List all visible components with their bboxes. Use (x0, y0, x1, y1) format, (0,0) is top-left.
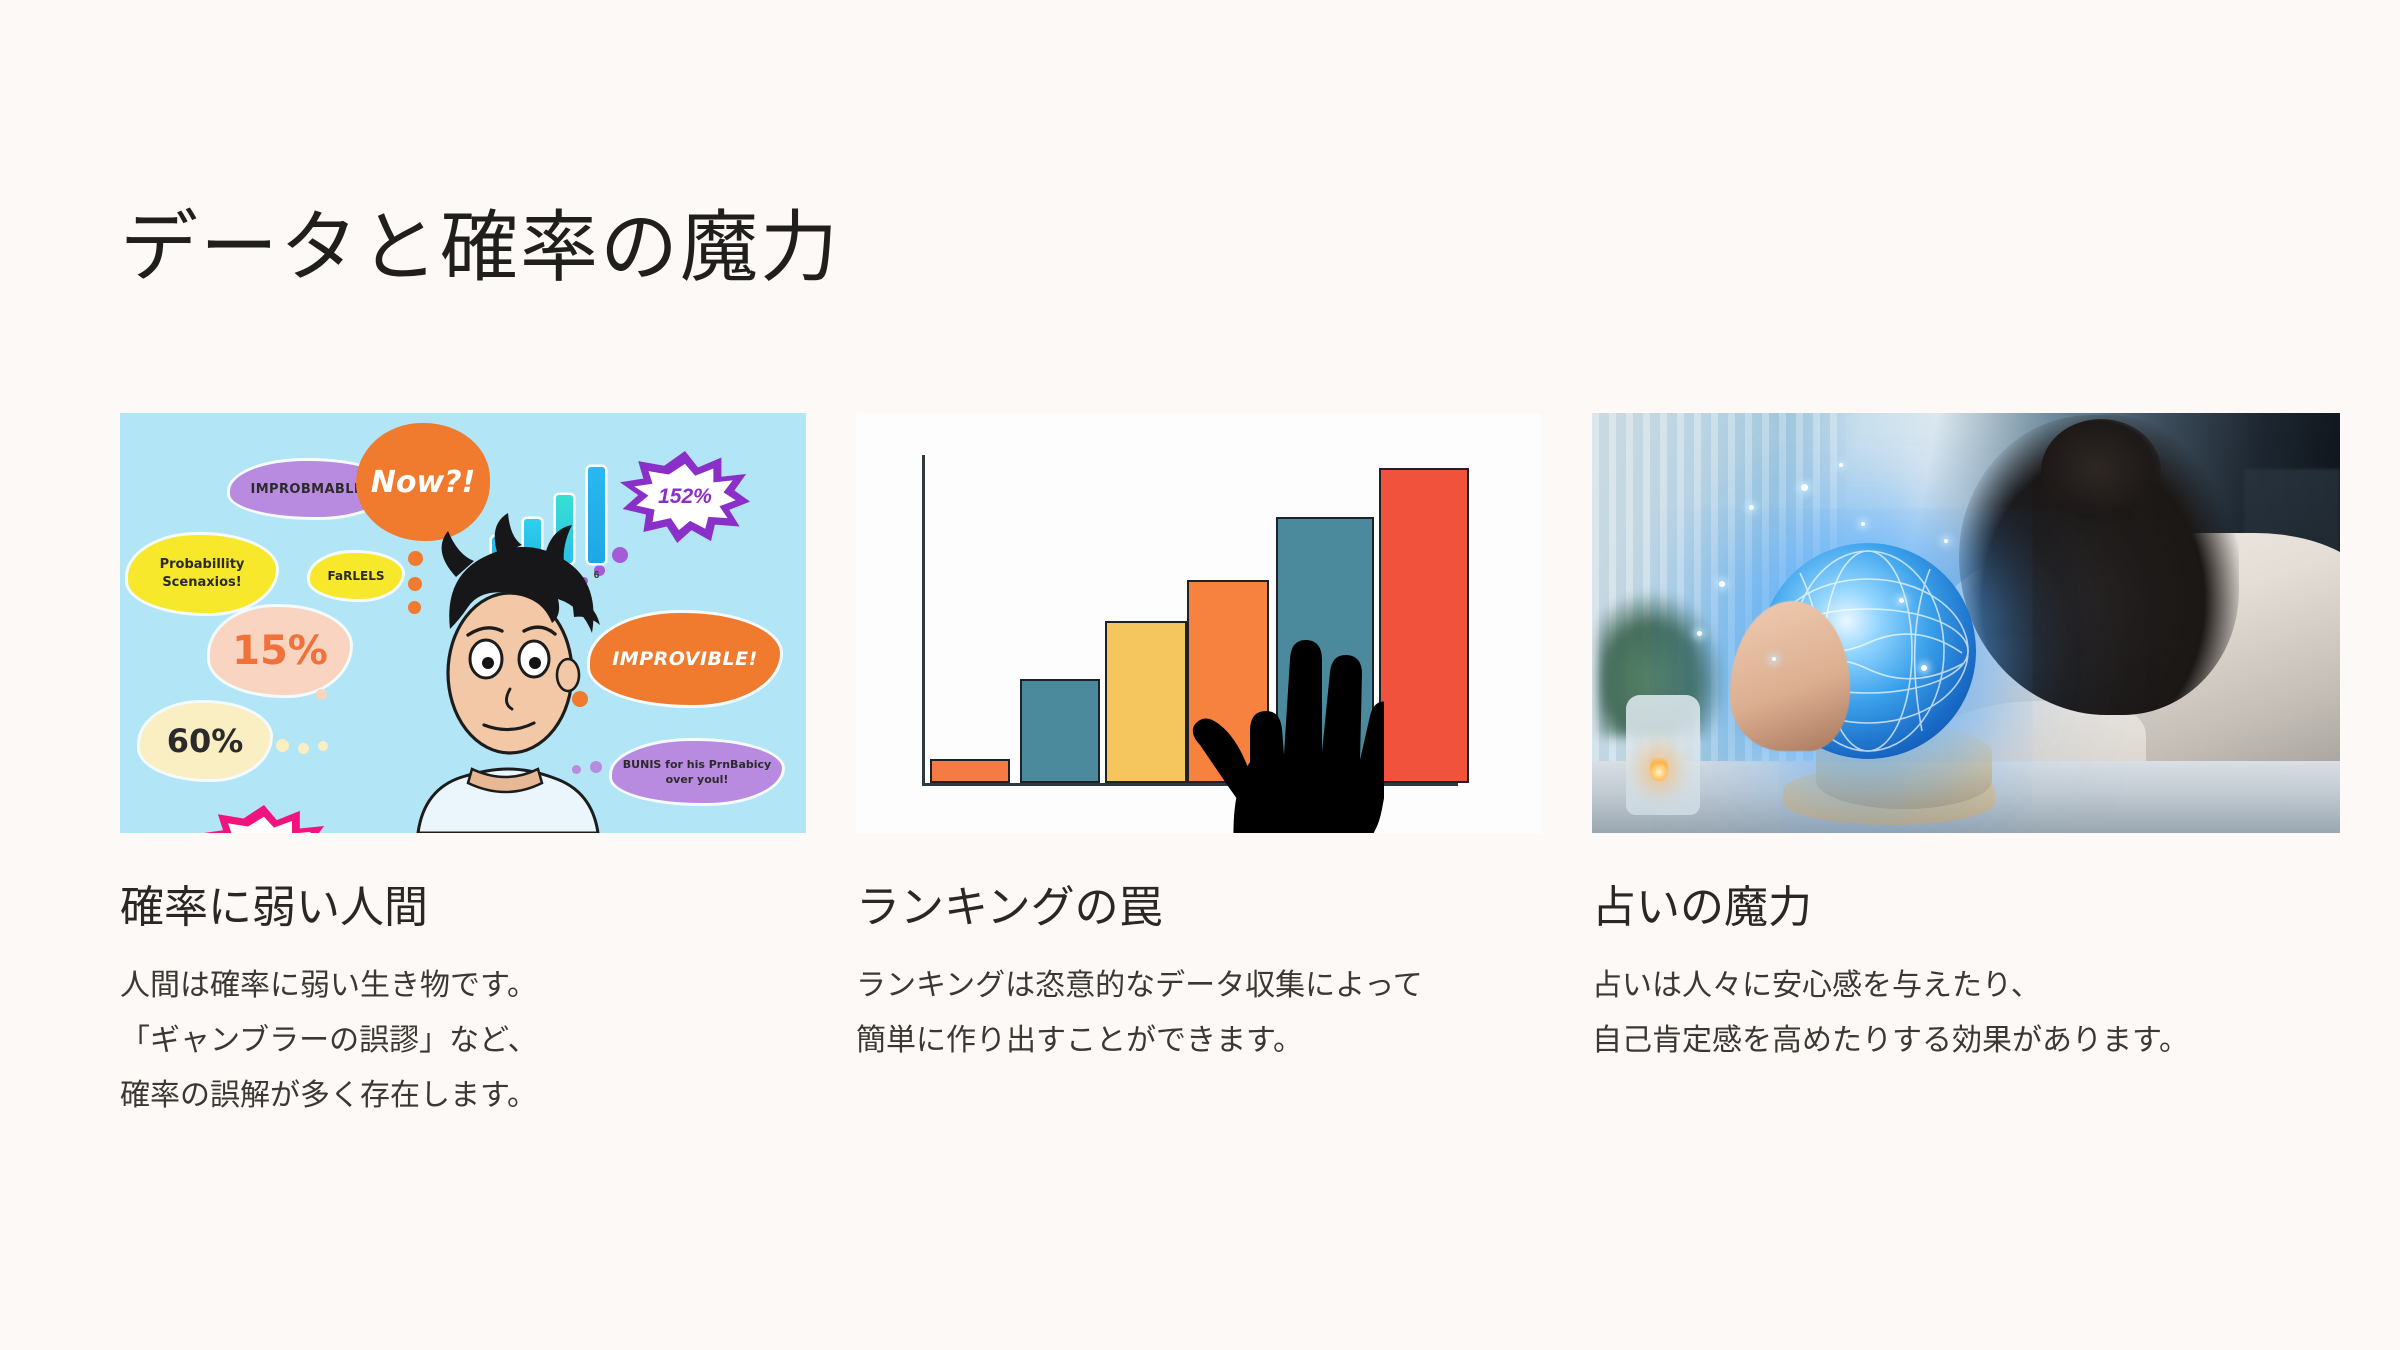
card-1-thumbnail[interactable]: IMPROBMABLE! Now?! Probabillity Scenaxio… (120, 413, 806, 833)
card-probability-humans[interactable]: IMPROBMABLE! Now?! Probabillity Scenaxio… (120, 413, 806, 1123)
card-2-body: ランキングは恣意的なデータ収集によって 簡単に作り出すことができます。 (856, 958, 1542, 1068)
black-hand-silhouette (1174, 591, 1384, 833)
slide-root: データと確率の魔力 IMPROBMABLE! Now?! Probabillit… (0, 0, 2400, 1350)
card-1-title: 確率に弱い人間 (120, 883, 806, 934)
candle-jar (1626, 695, 1700, 815)
chart-bar (1020, 679, 1100, 783)
chart-bar (930, 759, 1010, 783)
bar-chart-with-hand-image (856, 413, 1542, 833)
card-1-body: 人間は確率に弱い生き物です。 「ギャンブラーの誤謬」など、 確率の誤解が多く存在… (120, 958, 806, 1123)
chart-y-axis (922, 455, 925, 785)
card-3-body: 占いは人々に安心感を与えたり、 自己肯定感を高めたりする効果があります。 (1592, 958, 2340, 1068)
candle-flame (1650, 755, 1668, 781)
chart-bar (1379, 468, 1469, 783)
card-fortune-telling-magic[interactable]: 占いの魔力 占いは人々に安心感を与えたり、 自己肯定感を高めたりする効果がありま… (1592, 413, 2340, 1068)
card-3-title: 占いの魔力 (1592, 883, 2340, 934)
card-ranking-trap[interactable]: ランキングの罠 ランキングは恣意的なデータ収集によって 簡単に作り出すことができ… (856, 413, 1542, 1068)
woman-with-glowing-orb-image (1592, 413, 2340, 833)
card-3-thumbnail[interactable] (1592, 413, 2340, 833)
page-title: データと確率の魔力 (120, 208, 840, 286)
cartoon-man-figure (120, 413, 806, 833)
card-2-thumbnail[interactable] (856, 413, 1542, 833)
cartoon-confused-man-probability-bubbles-image: IMPROBMABLE! Now?! Probabillity Scenaxio… (120, 413, 806, 833)
card-2-title: ランキングの罠 (856, 883, 1542, 934)
woman-hair-bun (2041, 419, 2161, 523)
